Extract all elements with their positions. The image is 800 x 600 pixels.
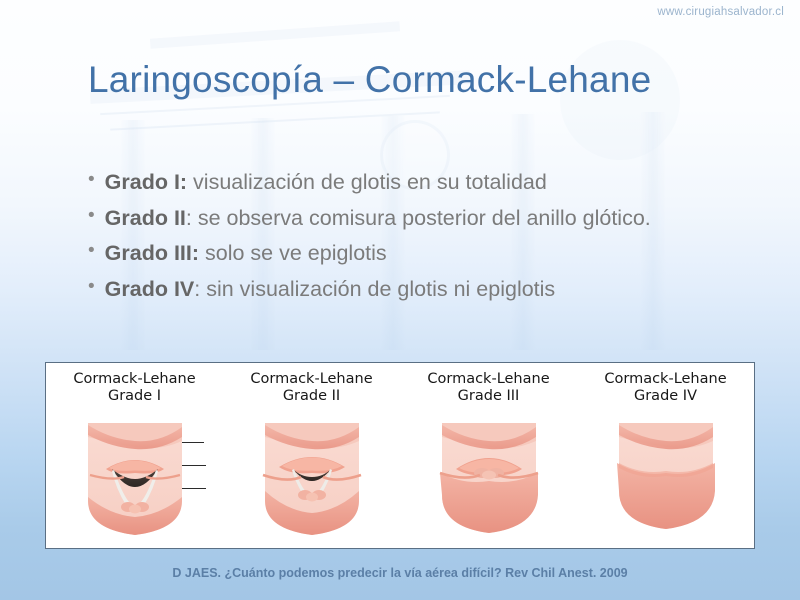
list-item: • Grado II: se observa comisura posterio…: [88, 204, 728, 233]
grade-2-caption: Cormack-Lehane Grade II: [223, 363, 400, 405]
caption-line-2: Grade II: [223, 388, 400, 405]
bullet-body: visualización de glotis en su totalidad: [187, 170, 547, 194]
caption-line-1: Cormack-Lehane: [400, 371, 577, 388]
bullet-body: solo se ve epiglotis: [199, 241, 387, 265]
grade-4-cell: Cormack-Lehane Grade IV: [577, 363, 754, 548]
page-title: Laringoscopía – Cormack-Lehane: [88, 59, 651, 101]
bullet-label: Grado II: [105, 206, 186, 230]
grade-2-illustration: [223, 419, 400, 545]
list-item: • Grado IV: sin visualización de glotis …: [88, 275, 728, 304]
grade-1-cell: Cormack-Lehane Grade I Epiglottis Vocal …: [46, 363, 223, 548]
caption-line-2: Grade IV: [577, 388, 754, 405]
slide: www.cirugiahsalvador.cl Laringoscopía – …: [0, 0, 800, 600]
list-item: • Grado I: visualización de glotis en su…: [88, 168, 728, 197]
bullet-dot: •: [88, 275, 95, 300]
grade-4-caption: Cormack-Lehane Grade IV: [577, 363, 754, 405]
bullet-text: Grado III: solo se ve epiglotis: [105, 239, 728, 268]
site-url: www.cirugiahsalvador.cl: [657, 6, 784, 18]
cormack-lehane-figure-panel: Cormack-Lehane Grade I Epiglottis Vocal …: [45, 362, 755, 549]
citation: D JAES. ¿Cuánto podemos predecir la vía …: [0, 566, 800, 580]
caption-line-1: Cormack-Lehane: [223, 371, 400, 388]
grade-1-caption: Cormack-Lehane Grade I: [46, 363, 223, 405]
bullet-label: Grado IV: [105, 277, 195, 301]
bullet-label: Grado I:: [105, 170, 187, 194]
bullet-text: Grado II: se observa comisura posterior …: [105, 204, 728, 233]
grade-1-illustration: [46, 419, 223, 545]
caption-line-2: Grade III: [400, 388, 577, 405]
grade-3-illustration: [400, 419, 577, 545]
list-item: • Grado III: solo se ve epiglotis: [88, 239, 728, 268]
bullet-text: Grado IV: sin visualización de glotis ni…: [105, 275, 728, 304]
bullet-dot: •: [88, 204, 95, 229]
caption-line-1: Cormack-Lehane: [46, 371, 223, 388]
grade-4-illustration: [577, 419, 754, 545]
caption-line-1: Cormack-Lehane: [577, 371, 754, 388]
grade-3-cell: Cormack-Lehane Grade III: [400, 363, 577, 548]
bullet-body: : sin visualización de glotis ni epiglot…: [194, 277, 555, 301]
bullet-label: Grado III:: [105, 241, 199, 265]
grade-2-cell: Cormack-Lehane Grade II: [223, 363, 400, 548]
caption-line-2: Grade I: [46, 388, 223, 405]
grade-3-caption: Cormack-Lehane Grade III: [400, 363, 577, 405]
bullet-dot: •: [88, 239, 95, 264]
bullet-body: : se observa comisura posterior del anil…: [186, 206, 651, 230]
bullet-text: Grado I: visualización de glotis en su t…: [105, 168, 728, 197]
bullet-dot: •: [88, 168, 95, 193]
bullet-list: • Grado I: visualización de glotis en su…: [88, 168, 728, 310]
